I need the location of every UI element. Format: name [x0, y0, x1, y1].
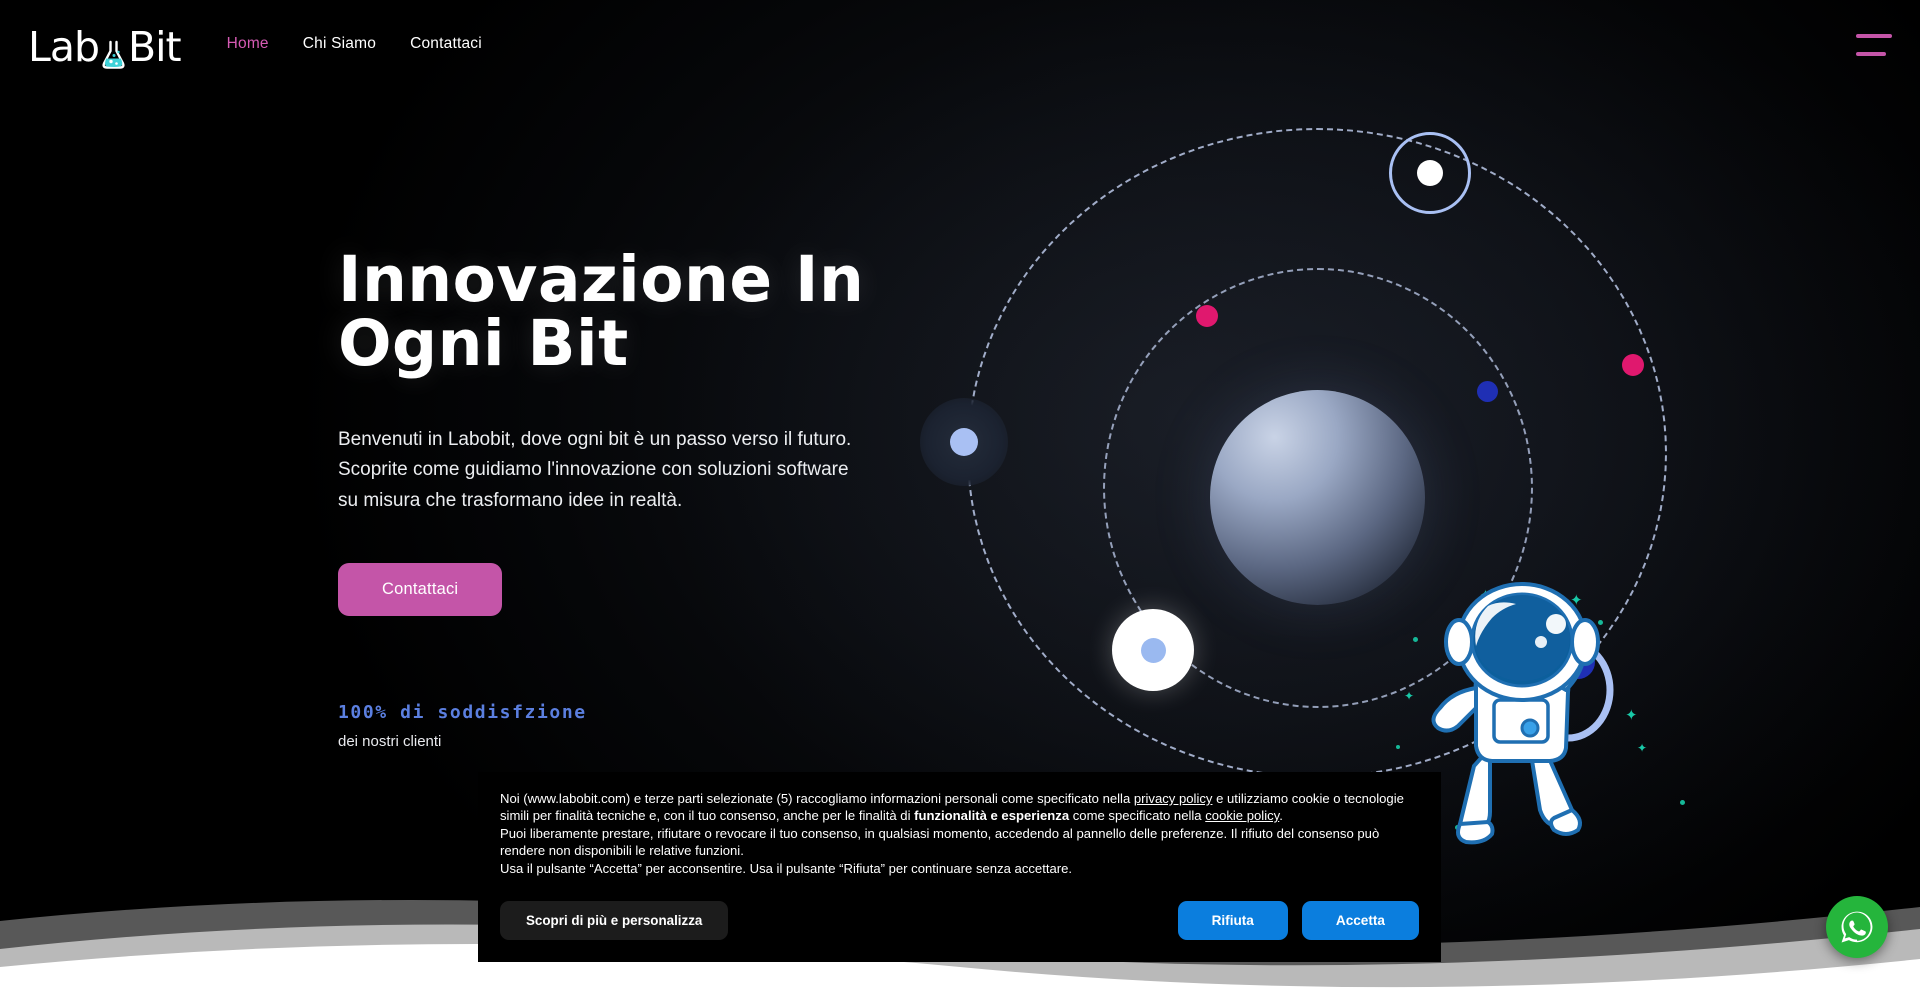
site-header: Lab Bit Home Chi Siamo Contattaci	[0, 0, 1920, 88]
customize-button[interactable]: Scopri di più e personalizza	[500, 901, 728, 940]
flask-icon	[100, 39, 127, 69]
hamburger-bar	[1856, 34, 1892, 38]
cookie-line1-c: come specificato nella	[1069, 808, 1205, 823]
satisfaction-stat: 100% di soddisfzione dei nostri clienti	[338, 702, 958, 750]
nav-item-contattaci[interactable]: Contattaci	[410, 35, 482, 53]
privacy-policy-link[interactable]: privacy policy	[1134, 791, 1213, 806]
hero-section: Innovazione In Ogni Bit Benvenuti in Lab…	[338, 248, 958, 750]
stat-subtitle: dei nostri clienti	[338, 733, 958, 750]
astronaut-illustration	[1418, 580, 1633, 845]
cookie-paragraph-1: Noi (www.labobit.com) e terze parti sele…	[500, 790, 1419, 824]
cookie-line1-d: .	[1279, 808, 1283, 823]
brand-name-part2: Bit	[128, 27, 181, 68]
whatsapp-glyph	[1838, 908, 1876, 946]
cookie-line1-a: Noi (www.labobit.com) e terze parti sele…	[500, 791, 1134, 806]
cookie-paragraph-2: Puoi liberamente prestare, rifiutare o r…	[500, 825, 1419, 859]
brand-logo[interactable]: Lab Bit	[28, 20, 181, 68]
nav-item-home[interactable]: Home	[227, 35, 269, 53]
hero-description: Benvenuti in Labobit, dove ogni bit è un…	[338, 425, 938, 517]
cookie-policy-link[interactable]: cookie policy	[1205, 808, 1279, 823]
stat-headline: 100% di soddisfzione	[338, 702, 958, 723]
contact-button[interactable]: Contattaci	[338, 563, 502, 616]
whatsapp-icon[interactable]	[1826, 896, 1888, 958]
cookie-paragraph-3: Usa il pulsante “Accetta” per acconsenti…	[500, 860, 1419, 877]
cookie-consent-banner: Noi (www.labobit.com) e terze parti sele…	[478, 772, 1441, 962]
cookie-decision-buttons: Rifiuta Accetta	[1178, 901, 1419, 940]
accept-button[interactable]: Accetta	[1302, 901, 1419, 940]
hamburger-icon[interactable]	[1856, 34, 1892, 56]
reject-button[interactable]: Rifiuta	[1178, 901, 1288, 940]
nav-item-chi-siamo[interactable]: Chi Siamo	[303, 35, 376, 53]
cookie-consent-text: Noi (www.labobit.com) e terze parti sele…	[500, 790, 1419, 877]
cookie-actions: Scopri di più e personalizza Rifiuta Acc…	[500, 901, 1419, 940]
hamburger-bar	[1856, 52, 1886, 56]
page-title: Innovazione In Ogni Bit	[338, 248, 958, 377]
primary-navigation: Home Chi Siamo Contattaci	[227, 35, 482, 53]
brand-name-part1: Lab	[28, 27, 99, 68]
cookie-purposes-bold: funzionalità e esperienza	[914, 808, 1069, 823]
